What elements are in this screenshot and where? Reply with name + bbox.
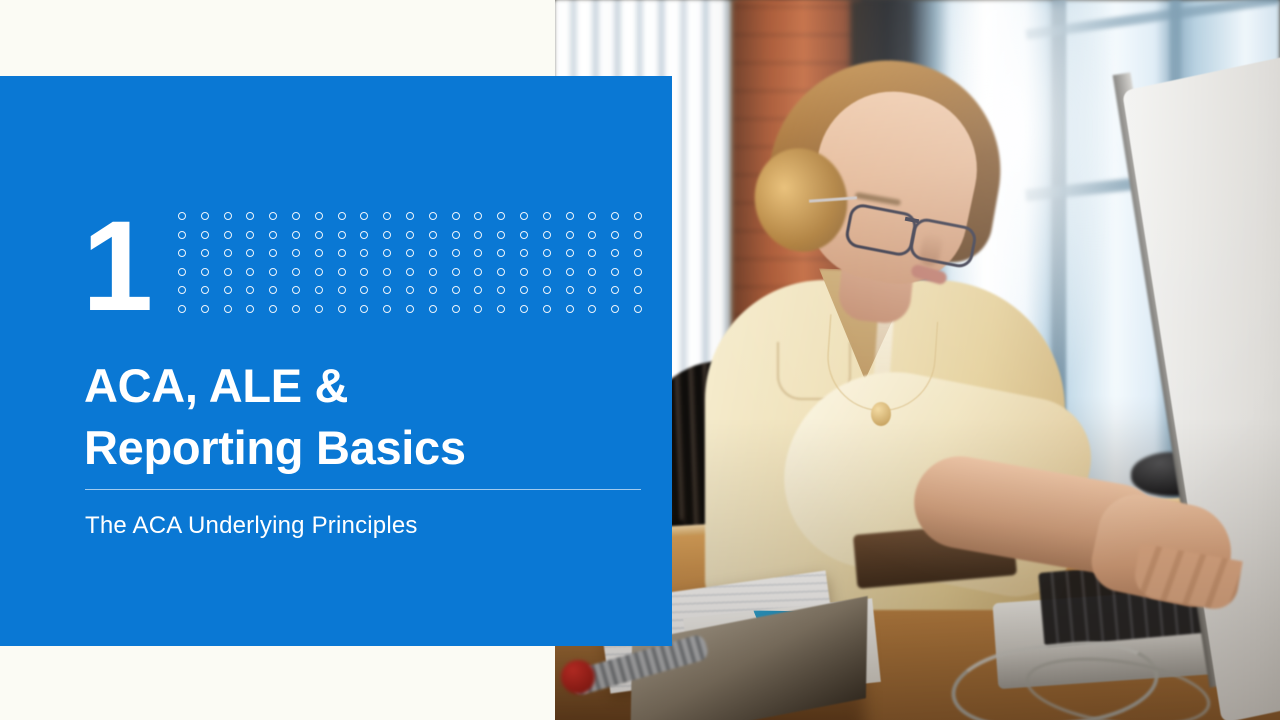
dot-circle-icon	[474, 286, 482, 294]
dot-circle-icon	[497, 212, 505, 220]
dot-circle-icon	[201, 268, 209, 276]
dot-circle-icon	[429, 268, 437, 276]
dot-circle-icon	[634, 286, 642, 294]
dot-circle-icon	[292, 249, 300, 257]
presentation-slide: 1 ACA, ALE & Reporting Basics The ACA Un…	[0, 0, 1280, 720]
dot-grid-row	[178, 268, 642, 287]
dot-circle-icon	[178, 286, 186, 294]
dot-circle-icon	[474, 249, 482, 257]
dot-circle-icon	[201, 305, 209, 313]
dot-circle-icon	[543, 212, 551, 220]
dot-circle-icon	[452, 249, 460, 257]
dot-circle-icon	[246, 231, 254, 239]
dot-circle-icon	[360, 231, 368, 239]
dot-circle-icon	[520, 305, 528, 313]
necklace-pendant	[871, 402, 891, 426]
dot-circle-icon	[269, 286, 277, 294]
dot-circle-icon	[246, 268, 254, 276]
dot-circle-icon	[406, 231, 414, 239]
dot-circle-icon	[315, 212, 323, 220]
section-number: 1	[82, 203, 151, 331]
dot-circle-icon	[224, 305, 232, 313]
dot-circle-icon	[338, 268, 346, 276]
dot-circle-icon	[611, 212, 619, 220]
dot-circle-icon	[474, 212, 482, 220]
dot-grid-decoration	[178, 212, 642, 324]
dot-circle-icon	[429, 305, 437, 313]
dot-circle-icon	[497, 305, 505, 313]
dot-circle-icon	[269, 249, 277, 257]
dot-circle-icon	[566, 249, 574, 257]
dot-circle-icon	[201, 249, 209, 257]
dot-circle-icon	[269, 212, 277, 220]
dot-circle-icon	[611, 249, 619, 257]
dot-circle-icon	[292, 212, 300, 220]
dot-circle-icon	[360, 305, 368, 313]
dot-circle-icon	[566, 268, 574, 276]
dot-circle-icon	[611, 231, 619, 239]
dot-circle-icon	[634, 212, 642, 220]
dot-circle-icon	[360, 286, 368, 294]
dot-circle-icon	[406, 305, 414, 313]
dot-circle-icon	[406, 249, 414, 257]
dot-circle-icon	[588, 286, 596, 294]
page-title: ACA, ALE & Reporting Basics	[84, 355, 654, 479]
dot-circle-icon	[383, 249, 391, 257]
dot-circle-icon	[429, 212, 437, 220]
dot-circle-icon	[224, 249, 232, 257]
dot-circle-icon	[338, 249, 346, 257]
dot-circle-icon	[588, 231, 596, 239]
dot-circle-icon	[543, 231, 551, 239]
dot-circle-icon	[429, 231, 437, 239]
dot-circle-icon	[338, 231, 346, 239]
dot-circle-icon	[634, 249, 642, 257]
dot-circle-icon	[224, 231, 232, 239]
dot-circle-icon	[383, 212, 391, 220]
dot-circle-icon	[520, 286, 528, 294]
dot-circle-icon	[360, 268, 368, 276]
dot-circle-icon	[429, 286, 437, 294]
dot-circle-icon	[383, 305, 391, 313]
dot-circle-icon	[497, 231, 505, 239]
dot-circle-icon	[201, 286, 209, 294]
dot-grid-row	[178, 249, 642, 268]
dot-circle-icon	[315, 286, 323, 294]
dot-circle-icon	[452, 212, 460, 220]
dot-circle-icon	[178, 268, 186, 276]
dot-circle-icon	[246, 305, 254, 313]
dot-circle-icon	[360, 212, 368, 220]
dot-circle-icon	[520, 249, 528, 257]
title-line-1: ACA, ALE &	[84, 359, 348, 412]
dot-circle-icon	[543, 305, 551, 313]
dot-circle-icon	[634, 268, 642, 276]
title-divider	[85, 489, 641, 490]
dot-circle-icon	[588, 249, 596, 257]
dot-circle-icon	[566, 231, 574, 239]
dot-circle-icon	[497, 249, 505, 257]
dot-circle-icon	[543, 249, 551, 257]
title-line-2: Reporting Basics	[84, 421, 466, 474]
dot-circle-icon	[178, 212, 186, 220]
dot-grid-row	[178, 286, 642, 305]
dot-circle-icon	[292, 268, 300, 276]
dot-circle-icon	[611, 305, 619, 313]
dot-circle-icon	[269, 231, 277, 239]
dot-circle-icon	[246, 286, 254, 294]
dot-circle-icon	[543, 286, 551, 294]
dot-circle-icon	[474, 305, 482, 313]
dot-circle-icon	[201, 212, 209, 220]
dot-circle-icon	[634, 231, 642, 239]
dot-circle-icon	[406, 286, 414, 294]
dot-circle-icon	[588, 268, 596, 276]
dot-circle-icon	[383, 231, 391, 239]
dot-grid-row	[178, 212, 642, 231]
dot-circle-icon	[292, 286, 300, 294]
dot-circle-icon	[269, 268, 277, 276]
dot-circle-icon	[611, 268, 619, 276]
dot-circle-icon	[315, 231, 323, 239]
dot-circle-icon	[338, 286, 346, 294]
dot-circle-icon	[452, 231, 460, 239]
dot-circle-icon	[315, 305, 323, 313]
dot-circle-icon	[292, 231, 300, 239]
dot-circle-icon	[520, 231, 528, 239]
dot-circle-icon	[520, 212, 528, 220]
dot-circle-icon	[224, 212, 232, 220]
dot-circle-icon	[383, 268, 391, 276]
dot-circle-icon	[429, 249, 437, 257]
dot-circle-icon	[360, 249, 368, 257]
dot-circle-icon	[178, 305, 186, 313]
dot-circle-icon	[292, 305, 300, 313]
dot-circle-icon	[474, 231, 482, 239]
page-subtitle: The ACA Underlying Principles	[85, 512, 418, 540]
dot-circle-icon	[315, 268, 323, 276]
dot-circle-icon	[497, 268, 505, 276]
dot-circle-icon	[543, 268, 551, 276]
dot-circle-icon	[566, 286, 574, 294]
dot-circle-icon	[520, 268, 528, 276]
dot-circle-icon	[611, 286, 619, 294]
dot-circle-icon	[588, 212, 596, 220]
dot-circle-icon	[201, 231, 209, 239]
dot-circle-icon	[497, 286, 505, 294]
dot-circle-icon	[224, 286, 232, 294]
dot-circle-icon	[246, 212, 254, 220]
dot-grid-row	[178, 231, 642, 250]
red-desk-object	[561, 660, 595, 694]
dot-circle-icon	[588, 305, 596, 313]
dot-circle-icon	[474, 268, 482, 276]
dot-circle-icon	[178, 231, 186, 239]
dot-circle-icon	[566, 305, 574, 313]
dot-circle-icon	[634, 305, 642, 313]
dot-circle-icon	[452, 305, 460, 313]
dot-circle-icon	[178, 249, 186, 257]
dot-circle-icon	[246, 249, 254, 257]
dot-circle-icon	[338, 212, 346, 220]
dot-circle-icon	[566, 212, 574, 220]
dot-circle-icon	[224, 268, 232, 276]
dot-circle-icon	[406, 268, 414, 276]
dot-circle-icon	[452, 268, 460, 276]
dot-grid-row	[178, 305, 642, 324]
dot-circle-icon	[338, 305, 346, 313]
dot-circle-icon	[406, 212, 414, 220]
dot-circle-icon	[315, 249, 323, 257]
dot-circle-icon	[452, 286, 460, 294]
dot-circle-icon	[269, 305, 277, 313]
dot-circle-icon	[383, 286, 391, 294]
